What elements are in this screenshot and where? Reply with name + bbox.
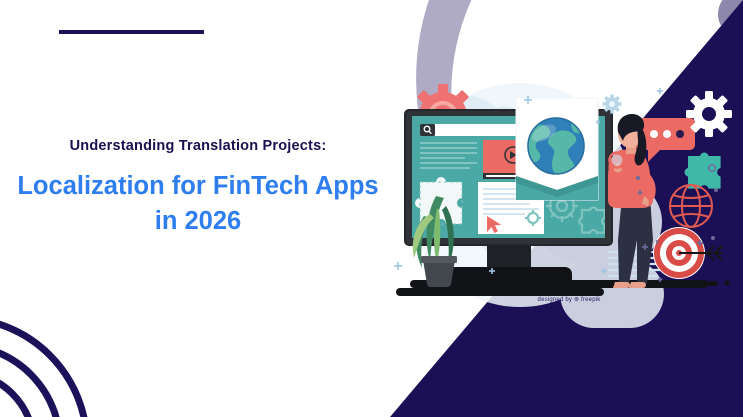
headline-line-1: Localization for FinTech Apps [17, 172, 378, 200]
banner-canvas: Understanding Translation Projects: Loca… [0, 0, 743, 417]
page-title: Localization for FinTech Apps in 2026 [0, 169, 396, 239]
wireframe-globe-icon [670, 185, 712, 227]
globe-card [516, 98, 598, 200]
headline-block: Understanding Translation Projects: Loca… [0, 139, 396, 239]
attribution-text: designed by ⊛ freepik [529, 296, 609, 303]
eyebrow-text: Understanding Translation Projects: [0, 139, 396, 155]
small-gear-icon [602, 94, 621, 113]
white-gear-icon [686, 91, 732, 137]
target-arrow-icon [653, 227, 722, 279]
headline-line-2: in 2026 [155, 207, 241, 235]
